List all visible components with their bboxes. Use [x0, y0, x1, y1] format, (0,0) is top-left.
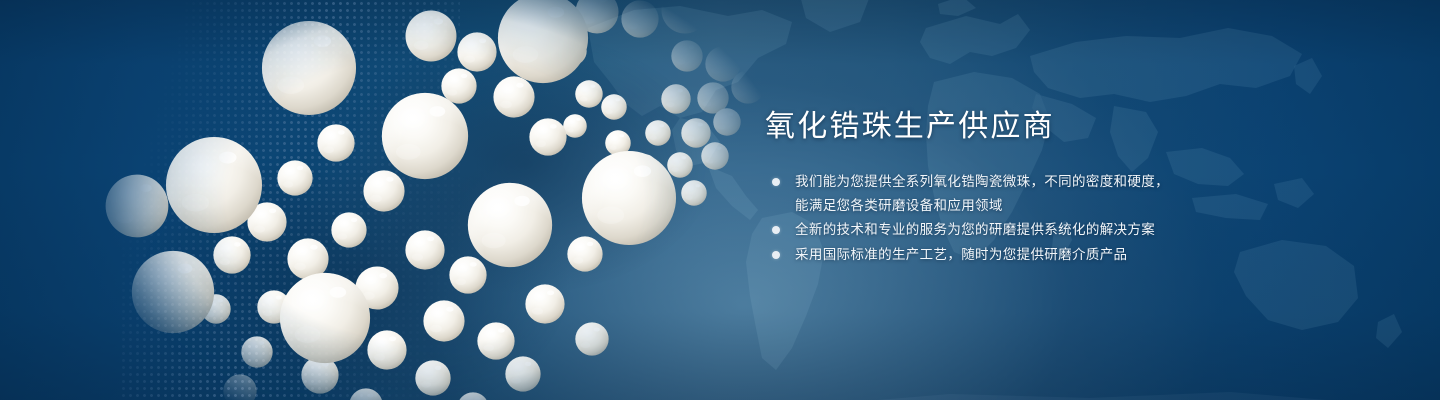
zirconia-beads-photo	[105, 0, 805, 400]
list-item: 全新的技术和专业的服务为您的研磨提供系统化的解决方案	[765, 218, 1385, 242]
list-item-line-1: 采用国际标准的生产工艺，随时为您提供研磨介质产品	[795, 247, 1127, 262]
bullet-dot-icon	[772, 178, 780, 186]
list-item-line-1: 我们能为您提供全系列氧化锆陶瓷微珠，不同的密度和硬度，	[795, 174, 1169, 189]
banner-copy: 氧化锆珠生产供应商 我们能为您提供全系列氧化锆陶瓷微珠，不同的密度和硬度， 能满…	[765, 108, 1385, 267]
bullet-dot-icon	[772, 226, 780, 234]
list-item: 我们能为您提供全系列氧化锆陶瓷微珠，不同的密度和硬度， 能满足您各类研磨设备和应…	[765, 170, 1385, 217]
promo-banner: 氧化锆珠生产供应商 我们能为您提供全系列氧化锆陶瓷微珠，不同的密度和硬度， 能满…	[0, 0, 1440, 400]
page-title: 氧化锆珠生产供应商	[765, 108, 1385, 146]
list-item-line-1: 全新的技术和专业的服务为您的研磨提供系统化的解决方案	[795, 222, 1155, 237]
bullet-dot-icon	[772, 251, 780, 259]
list-item-line-2: 能满足您各类研磨设备和应用领域	[795, 194, 1385, 218]
feature-list: 我们能为您提供全系列氧化锆陶瓷微珠，不同的密度和硬度， 能满足您各类研磨设备和应…	[765, 170, 1385, 266]
list-item: 采用国际标准的生产工艺，随时为您提供研磨介质产品	[765, 243, 1385, 267]
